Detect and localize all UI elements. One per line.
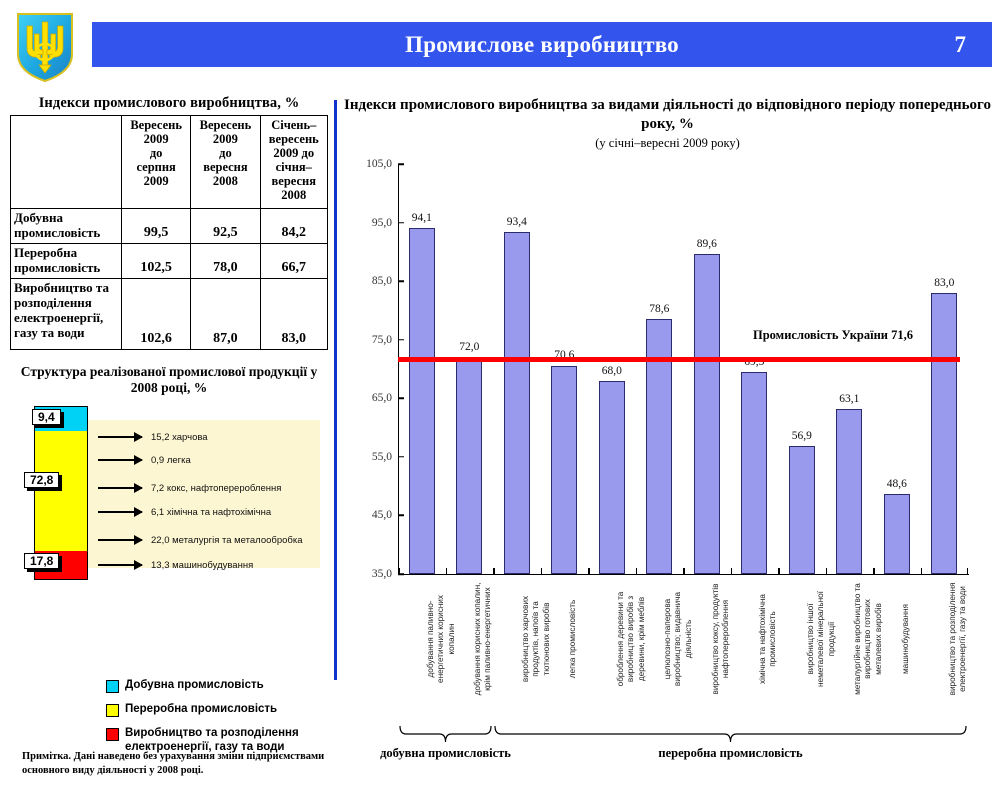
table-cell: 84,2	[260, 209, 327, 244]
plot-area: 105,095,085,075,065,055,045,035,0 94,172…	[398, 164, 968, 574]
x-axis-category-label: виробництво харчових продуктів, напоїв т…	[521, 580, 552, 698]
table-row-label: Добувна промисловість	[11, 209, 122, 244]
arrow-icon	[98, 564, 142, 566]
y-axis-tick-mark	[398, 222, 404, 224]
y-axis-tick-label: 45,0	[372, 509, 398, 521]
x-axis-category-label: виробництво іншої неметалевої мінерально…	[806, 580, 837, 698]
group-label-mining: добувна промисловість	[376, 746, 516, 762]
y-axis-tick-mark	[398, 515, 404, 517]
arrow-icon	[98, 539, 142, 541]
bar-value-label: 93,4	[507, 216, 527, 228]
table-cell: 102,6	[122, 278, 191, 349]
left-column: Індекси промислового виробництва, % Вере…	[10, 95, 330, 685]
structure-breakdown-text: 6,1 хімічна та нафтохімічна	[151, 507, 271, 518]
table-corner-cell	[11, 116, 122, 209]
structure-breakdown-item: 7,2 кокс, нафтоперероблення	[98, 481, 281, 495]
bar	[456, 357, 482, 574]
column-divider	[334, 100, 337, 680]
bar	[599, 381, 625, 574]
table-row: Переробна промисловість102,578,066,7	[11, 243, 328, 278]
bar-value-label: 63,1	[839, 393, 859, 405]
x-axis-category-label: машинобудування	[901, 580, 911, 698]
legend-swatch	[106, 704, 119, 717]
bar	[741, 372, 767, 574]
legend-item: Добувна промисловість	[106, 678, 336, 693]
legend-item: Переробна промисловість	[106, 702, 336, 717]
structure-breakdown-item: 15,2 харчова	[98, 430, 208, 444]
header-band: Промислове виробництво 7	[92, 22, 992, 67]
bar-value-label: 56,9	[792, 430, 812, 442]
x-axis-tick	[446, 568, 448, 574]
indices-table-title: Індекси промислового виробництва, %	[10, 95, 328, 115]
chart-title: Індекси промислового виробництва за вида…	[340, 96, 995, 134]
bar	[694, 254, 720, 574]
table-cell: 102,5	[122, 243, 191, 278]
structure-breakdown-item: 6,1 хімічна та нафтохімічна	[98, 505, 271, 519]
structure-breakdown-item: 0,9 легка	[98, 453, 191, 467]
bar	[789, 446, 815, 574]
y-axis-tick-mark	[398, 398, 404, 400]
bar-value-label: 78,6	[649, 303, 669, 315]
arrow-icon	[98, 459, 142, 461]
table-cell: 87,0	[191, 278, 260, 349]
y-axis-tick-mark	[398, 163, 404, 165]
bar	[836, 409, 862, 574]
indices-table: Вересень2009досерпня2009Вересень2009дове…	[10, 115, 328, 350]
structure-breakdown-text: 0,9 легка	[151, 455, 191, 466]
y-axis-tick-label: 55,0	[372, 451, 398, 463]
x-axis-tick	[967, 568, 969, 574]
table-cell: 99,5	[122, 209, 191, 244]
y-axis-tick-mark	[398, 339, 404, 341]
group-brackets: добувна промисловість переробна промисло…	[398, 724, 968, 790]
y-axis-tick-label: 75,0	[372, 334, 398, 346]
legend-swatch	[106, 728, 119, 741]
table-cell: 92,5	[191, 209, 260, 244]
arrow-icon	[98, 436, 142, 438]
x-axis-tick	[826, 568, 828, 574]
bar-value-label: 89,6	[697, 238, 717, 250]
x-axis-category-label: хімічна та нафтохімічна промисловість	[758, 580, 779, 698]
legend-label: Добувна промисловість	[125, 678, 264, 692]
x-axis-category-label: виробництво коксу, продуктів нафтопереро…	[711, 580, 732, 698]
structure-breakdown-item: 13,3 машинобудування	[98, 558, 253, 572]
bar-value-label: 72,0	[459, 341, 479, 353]
y-axis-tick-label: 35,0	[372, 568, 398, 580]
group-label-manufacturing: переробна промисловість	[621, 746, 841, 762]
x-axis-tick	[493, 568, 495, 574]
legend-swatch	[106, 680, 119, 693]
structure-value-mining: 9,4	[32, 409, 61, 425]
structure-value-energy: 17,8	[24, 553, 59, 569]
bar	[409, 228, 435, 574]
y-axis-tick-mark	[398, 456, 404, 458]
page-number: 7	[955, 22, 967, 67]
x-axis-category-label: металургійне виробництво та виробництво …	[853, 580, 884, 698]
bar-value-label: 48,6	[887, 478, 907, 490]
table-cell: 83,0	[260, 278, 327, 349]
table-column-header-3: Січень–вересень2009 досічня–вересня2008	[260, 116, 327, 209]
x-axis-category-label: оброблення деревини та виробництво вироб…	[616, 580, 647, 698]
x-axis-category-label: целюлозно-паперова виробництво; видавнич…	[663, 580, 694, 698]
bar	[931, 293, 957, 574]
structure-segment-manufacturing	[35, 431, 87, 551]
y-axis-tick-label: 85,0	[372, 275, 398, 287]
x-axis-tick	[636, 568, 638, 574]
category-labels: добування паливно-енергетичних корисних …	[398, 580, 968, 720]
table-row-label: Переробна промисловість	[11, 243, 122, 278]
x-axis-tick	[588, 568, 590, 574]
y-axis-tick-label: 95,0	[372, 217, 398, 229]
x-axis-tick	[778, 568, 780, 574]
table-row: Добувна промисловість99,592,584,2	[11, 209, 328, 244]
table-column-header-2: Вересень2009довересня2008	[191, 116, 260, 209]
x-axis-tick	[731, 568, 733, 574]
x-axis-tick	[398, 568, 400, 574]
structure-chart: 9,4 72,8 17,8 15,2 харчова0,9 легка7,2 к…	[10, 406, 328, 581]
table-header-row: Вересень2009досерпня2009Вересень2009дове…	[11, 116, 328, 209]
structure-breakdown-text: 15,2 харчова	[151, 432, 208, 443]
table-cell: 78,0	[191, 243, 260, 278]
bar-value-label: 94,1	[412, 212, 432, 224]
y-axis-tick-label: 65,0	[372, 392, 398, 404]
table-row-label: Виробництво та розподілення електроенерг…	[11, 278, 122, 349]
x-axis-category-label: добування корисних копалин, крім паливно…	[473, 580, 494, 698]
chart-subtitle: (у січні–вересні 2009 року)	[340, 136, 995, 151]
bar-value-label: 68,0	[602, 365, 622, 377]
x-axis-category-label: виробництво та розподілення електроенерг…	[948, 580, 969, 698]
bar	[551, 366, 577, 575]
reference-line	[398, 357, 960, 362]
structure-breakdown-text: 7,2 кокс, нафтоперероблення	[151, 483, 281, 494]
reference-line-label: Промисловість України 71,6	[753, 328, 913, 343]
x-axis-tick	[683, 568, 685, 574]
page-title: Промислове виробництво	[92, 22, 992, 67]
bar	[884, 494, 910, 574]
legend-label: Переробна промисловість	[125, 702, 277, 716]
ukraine-coat-of-arms-icon	[14, 10, 76, 84]
table-row: Виробництво та розподілення електроенерг…	[11, 278, 328, 349]
structure-breakdown-text: 13,3 машинобудування	[151, 560, 253, 571]
structure-breakdown-item: 22,0 металургія та металообробка	[98, 533, 303, 547]
x-axis-tick	[921, 568, 923, 574]
bar-value-label: 83,0	[934, 277, 954, 289]
structure-chart-title: Структура реалізованої промислової проду…	[10, 364, 328, 396]
table-column-header-1: Вересень2009досерпня2009	[122, 116, 191, 209]
y-axis-tick-mark	[398, 280, 404, 282]
y-axis-tick-label: 105,0	[366, 158, 398, 170]
x-axis-tick	[541, 568, 543, 574]
x-axis-category-label: легка промисловість	[568, 580, 578, 698]
structure-breakdown-text: 22,0 металургія та металообробка	[151, 535, 303, 546]
footnote: Примітка. Дані наведено без урахування з…	[22, 750, 332, 777]
x-axis-tick	[873, 568, 875, 574]
bar-chart: Індекси промислового виробництва за вида…	[340, 96, 995, 694]
arrow-icon	[98, 487, 142, 489]
structure-value-manufacturing: 72,8	[24, 472, 59, 488]
bar	[504, 232, 530, 574]
table-cell: 66,7	[260, 243, 327, 278]
arrow-icon	[98, 511, 142, 513]
x-axis-category-label: добування паливно-енергетичних корисних …	[426, 580, 457, 698]
